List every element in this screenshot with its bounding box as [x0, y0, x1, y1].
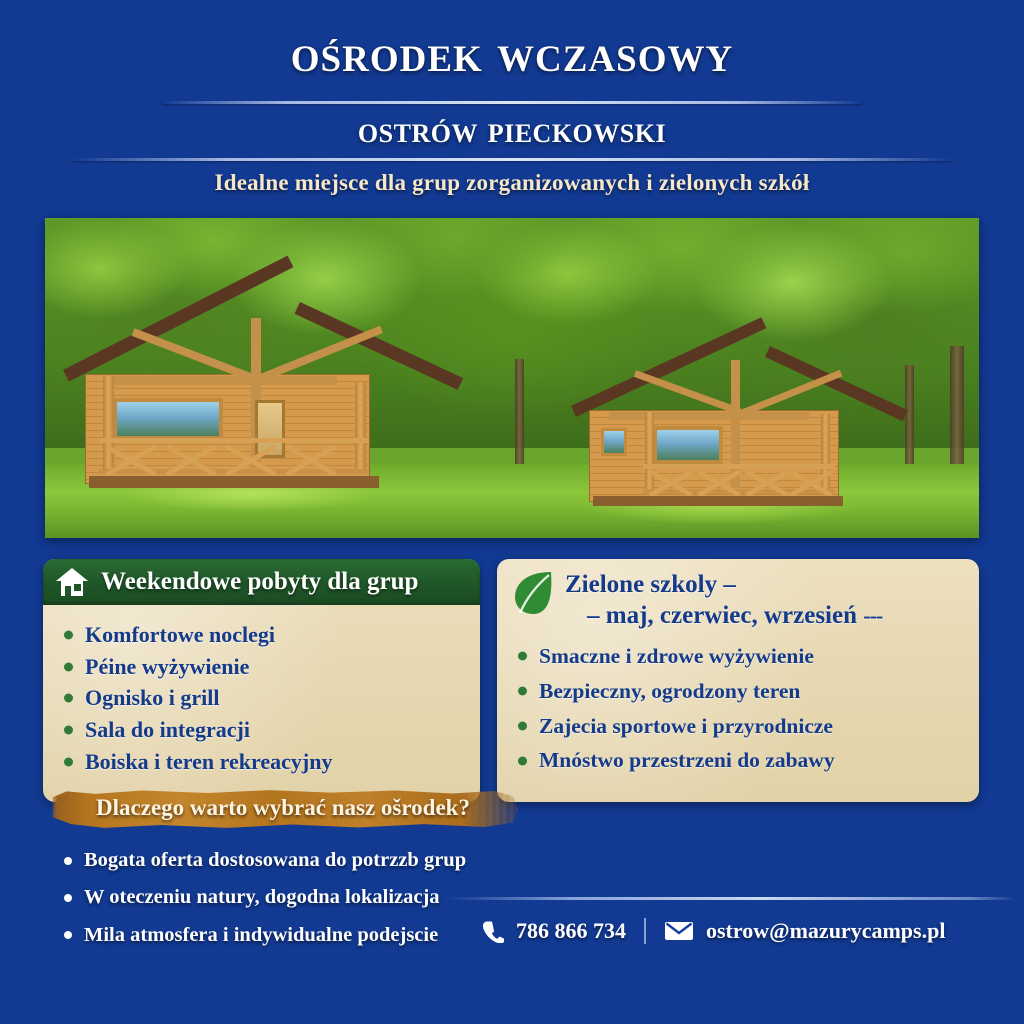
header-divider-top: [162, 101, 862, 104]
leaf-icon: [511, 569, 555, 631]
list-item: Zajecia sportowe i przyrodnicze: [515, 709, 961, 744]
card-left-body: Komfortowe noclegi Péine wyżywienie Ogni…: [43, 605, 480, 785]
weekend-stays-list: Komfortowe noclegi Péine wyżywienie Ogni…: [61, 619, 462, 777]
contact-email[interactable]: ostrow@mazurycamps.pl: [706, 918, 945, 944]
header-block: Ośrodek Wczasowy: [0, 26, 1024, 83]
page-subtitle: Ostrów Pieckowski: [0, 109, 1024, 152]
contact-bar: 786 866 734 ostrow@mazurycamps.pl: [480, 918, 1000, 944]
list-item: Ognisko i grill: [61, 682, 462, 714]
contact-phone[interactable]: 786 866 734: [516, 918, 626, 944]
list-item: Bezpieczny, ogrodzony teren: [515, 674, 961, 709]
list-item: Sala do integracji: [61, 714, 462, 746]
card-right-title-line2-text: – maj, czerwiec, wrzesień: [587, 602, 857, 629]
porch-header-beam: [609, 412, 809, 420]
card-weekend-stays: Weekendowe pobyty dla grup Komfortowe no…: [43, 559, 480, 802]
phone-icon: [480, 919, 504, 943]
why-banner-label: Dlaczego warto wybrać nasz ošrodek?: [48, 788, 518, 830]
porch-header-beam: [107, 376, 337, 385]
contact-divider: [448, 897, 1016, 900]
list-item: Péine wyżywienie: [61, 651, 462, 683]
list-item: Komfortowe noclegi: [61, 619, 462, 651]
green-schools-list: Smaczne i zdrowe wyżywienie Bezpieczny, …: [515, 639, 961, 778]
list-item: Smaczne i zdrowe wyżywienie: [515, 639, 961, 674]
cabin-window: [113, 398, 223, 440]
why-banner: Dlaczego warto wybrać nasz ošrodek?: [48, 788, 518, 830]
porch-railing: [99, 438, 369, 474]
list-item: Boiska i teren rekreacyjny: [61, 746, 462, 778]
gable-brace: [634, 370, 742, 415]
envelope-icon: [664, 920, 694, 942]
cabin-window: [601, 428, 627, 456]
cabin-window: [653, 426, 723, 464]
tree-trunk: [515, 359, 524, 481]
cabin-left: [55, 304, 455, 504]
card-right-titles: Zielone szkoly – – maj, czerwiec, wrzesi…: [565, 569, 882, 631]
list-item: Mila atmosfera i indywidualne podejscie: [60, 917, 540, 954]
title-dash-decoration: ---: [863, 603, 882, 628]
tagline: Idealne miejsce dla grup zorganizowanych…: [0, 170, 1024, 196]
cabin-right: [565, 348, 905, 518]
porch-deck: [89, 476, 379, 488]
card-right-title-line1: Zielone szkoly –: [565, 569, 882, 600]
porch-deck: [593, 496, 843, 506]
house-icon: [55, 567, 89, 597]
cabin-photo: [45, 218, 979, 538]
header-divider-bottom: [72, 158, 952, 161]
card-left-header: Weekendowe pobyty dla grup: [43, 559, 480, 605]
porch-railing: [643, 464, 835, 494]
card-green-schools: Zielone szkoly – – maj, czerwiec, wrzesi…: [497, 559, 979, 802]
poster-root: Ośrodek Wczasowy Ostrów Pieckowski Ideal…: [0, 0, 1024, 1024]
card-right-body: Smaczne i zdrowe wyżywienie Bezpieczny, …: [497, 631, 979, 786]
list-item: Bogata oferta dostosowana do potrzzb gru…: [60, 842, 540, 879]
card-right-header: Zielone szkoly – – maj, czerwiec, wrzesi…: [497, 559, 979, 631]
list-item: Mnóstwo przestrzeni do zabawy: [515, 743, 961, 778]
contact-separator: [644, 918, 646, 944]
tree-trunk: [905, 365, 914, 480]
page-title: Ośrodek Wczasowy: [0, 26, 1024, 83]
card-right-title-line2: – maj, czerwiec, wrzesień ---: [565, 600, 882, 631]
card-left-title: Weekendowe pobyty dla grup: [101, 568, 418, 596]
